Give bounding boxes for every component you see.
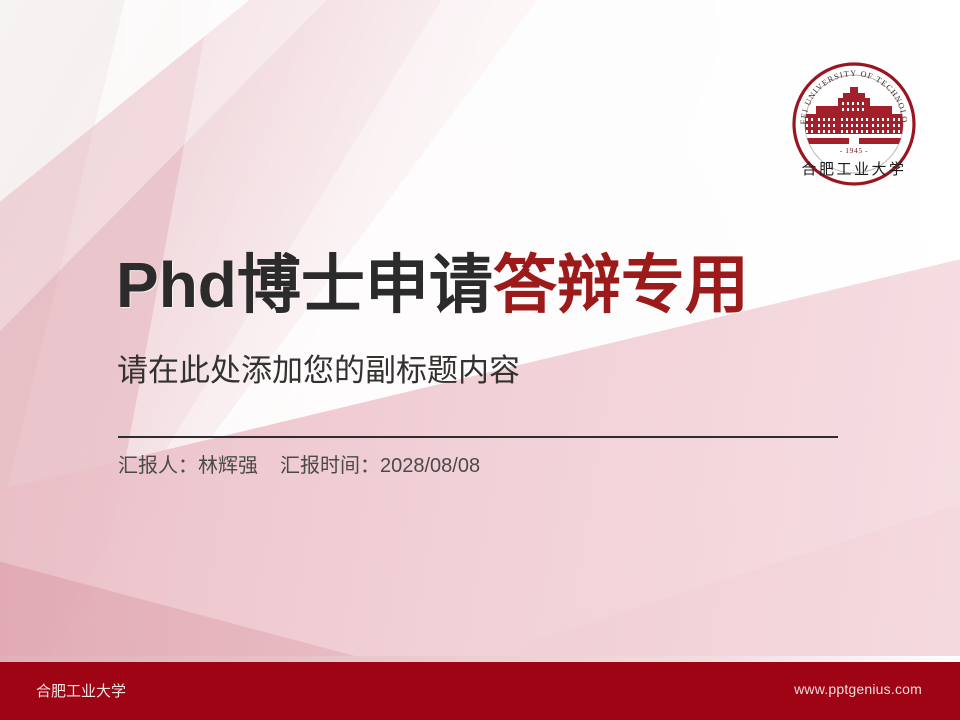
title-divider <box>118 436 838 438</box>
title-dark-part: Phd博士申请 <box>116 249 493 321</box>
byline: 汇报人：林辉强汇报时间：2028/08/08 <box>118 452 480 480</box>
page-title: Phd博士申请答辩专用 <box>116 252 749 320</box>
svg-text:- 1945 -: - 1945 - <box>840 146 869 155</box>
footer-organization: 合肥工业大学 <box>36 680 126 701</box>
page-subtitle: 请在此处添加您的副标题内容 <box>117 352 520 389</box>
presenter-name: 林辉强 <box>198 455 258 477</box>
university-emblem-icon: HEFEI UNIVERSITY OF TECHNOLOGY <box>786 56 922 192</box>
presenter-label: 汇报人： <box>118 455 198 477</box>
footer-bar: 合肥工业大学 www.pptgenius.com <box>0 662 960 720</box>
date-label: 汇报时间： <box>280 455 380 477</box>
svg-text:合肥工业大学: 合肥工业大学 <box>801 161 906 178</box>
date-value: 2028/08/08 <box>380 455 480 477</box>
title-red-part: 答辩专用 <box>493 249 749 321</box>
title-slide: HEFEI UNIVERSITY OF TECHNOLOGY <box>0 0 960 720</box>
footer-website-link[interactable]: www.pptgenius.com <box>794 681 922 697</box>
